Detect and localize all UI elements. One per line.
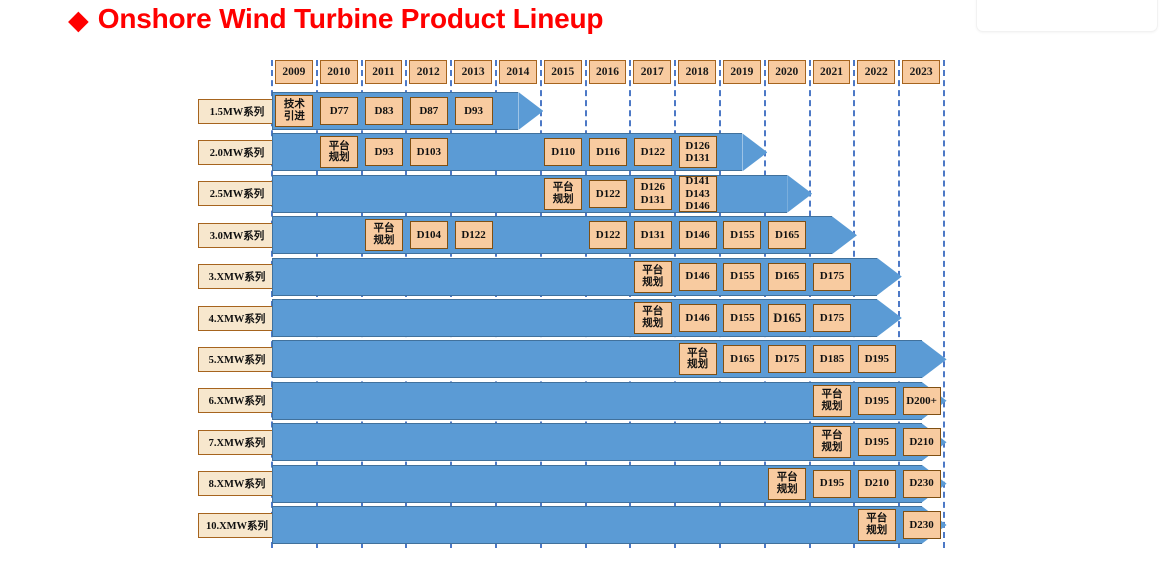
arrow-head [877,258,902,296]
year-header-cell: 2012 [409,60,447,84]
milestone-label-line: D165 [730,353,754,365]
milestone-label-line: D126 [641,181,665,193]
milestone-product-box[interactable]: D230 [903,470,941,498]
series-label: 3.XMW系列 [198,264,276,289]
year-header-cell: 2010 [320,60,358,84]
milestone-label-line: D116 [596,146,620,158]
milestone-label-line: D155 [730,270,754,282]
year-header-cell: 2020 [768,60,806,84]
milestone-label-line: D110 [551,146,575,158]
milestone-product-box[interactable]: D146 [679,221,717,249]
milestone-product-box[interactable]: D110 [544,138,582,166]
milestone-label-line: D141 [685,175,709,187]
milestone-label-line: D126 [685,140,709,152]
series-label: 2.0MW系列 [198,140,276,165]
milestone-product-box[interactable]: D165 [723,345,761,373]
milestone-product-box[interactable]: D155 [723,221,761,249]
milestone-label-line: D165 [775,270,799,282]
milestone-label-line: D155 [730,312,754,324]
milestone-label-line: D131 [685,152,709,164]
year-header-cell: 2023 [902,60,940,84]
milestone-label-line: D146 [685,229,709,241]
milestone-product-box[interactable]: D122 [455,221,493,249]
milestone-product-box[interactable]: D146 [679,304,717,332]
milestone-product-box[interactable]: D77 [320,97,358,125]
milestone-product-box[interactable]: D141D143D146 [679,176,717,212]
milestone-label-line: D143 [685,188,709,200]
arrow-head [742,133,767,171]
milestone-label-line: D175 [820,312,844,324]
slide-canvas: ◆ Onshore Wind Turbine Product Lineup 20… [0,0,1165,566]
milestone-label-line: 规划 [642,318,663,330]
milestone-label-line: D195 [820,477,844,489]
milestone-product-box[interactable]: D200+ [903,387,941,415]
milestone-product-box[interactable]: D195 [858,345,896,373]
year-header-cell: 2018 [678,60,716,84]
milestone-product-box[interactable]: D155 [723,304,761,332]
milestone-plan-box[interactable]: 平台规划 [679,343,717,375]
milestone-label-line: 引进 [284,111,305,123]
milestone-label-line: D175 [775,353,799,365]
milestone-product-box[interactable]: D195 [858,387,896,415]
arrow-head [832,216,857,254]
milestone-label-line: 平台 [642,265,663,277]
milestone-plan-box[interactable]: 平台规划 [813,385,851,417]
year-header-cell: 2009 [275,60,313,84]
arrow-head [922,340,947,378]
milestone-plan-box[interactable]: 平台规划 [634,261,672,293]
series-label: 7.XMW系列 [198,430,276,455]
milestone-label-line: D93 [375,146,394,158]
milestone-label-line: D122 [641,146,665,158]
year-header-cell: 2014 [499,60,537,84]
milestone-product-box[interactable]: D122 [634,138,672,166]
milestone-product-box[interactable]: D230 [903,511,941,539]
milestone-product-box[interactable]: D175 [813,304,851,332]
milestone-plan-box[interactable]: 技术引进 [275,95,313,127]
milestone-label-line: D195 [865,436,889,448]
milestone-product-box[interactable]: D122 [589,180,627,208]
milestone-label-line: D175 [820,270,844,282]
series-label: 2.5MW系列 [198,181,276,206]
arrow-head [518,92,543,130]
milestone-label-line: 规划 [329,152,350,164]
milestone-plan-box[interactable]: 平台规划 [768,468,806,500]
milestone-product-box[interactable]: D83 [365,97,403,125]
year-header-cell: 2015 [544,60,582,84]
milestone-product-box[interactable]: D126D131 [634,178,672,210]
milestone-label-line: 平台 [777,472,798,484]
milestone-product-box[interactable]: D122 [589,221,627,249]
milestone-plan-box[interactable]: 平台规划 [320,136,358,168]
milestone-label-line: D77 [330,105,349,117]
milestone-product-box[interactable]: D165 [768,221,806,249]
milestone-label-line: D165 [773,311,801,325]
milestone-label-line: D93 [464,105,483,117]
series-label: 6.XMW系列 [198,388,276,413]
year-header-cell: 2013 [454,60,492,84]
milestone-label-line: 规划 [642,277,663,289]
year-header-cell: 2019 [723,60,761,84]
milestone-product-box[interactable]: D103 [410,138,448,166]
year-header-cell: 2021 [813,60,851,84]
milestone-product-box[interactable]: D175 [768,345,806,373]
milestone-label-line: 规划 [866,525,887,537]
series-timeline-arrow [272,175,812,213]
milestone-plan-box[interactable]: 平台规划 [858,509,896,541]
milestone-label-line: 规划 [687,359,708,371]
year-header-cell: 2016 [589,60,627,84]
milestone-plan-box[interactable]: 平台规划 [544,178,582,210]
year-header-cell: 2022 [857,60,895,84]
series-label: 1.5MW系列 [198,99,276,124]
milestone-label-line: D230 [909,519,933,531]
series-label: 10.XMW系列 [198,513,276,538]
milestone-label-line: D195 [865,353,889,365]
milestone-label-line: 规划 [822,401,843,413]
milestone-label-line: 规划 [374,235,395,247]
year-header-cell: 2017 [633,60,671,84]
milestone-product-box[interactable]: D175 [813,263,851,291]
milestone-product-box[interactable]: D116 [589,138,627,166]
series-label: 5.XMW系列 [198,347,276,372]
milestone-plan-box[interactable]: 平台规划 [365,219,403,251]
milestone-product-box[interactable]: D87 [410,97,448,125]
milestone-label-line: D122 [461,229,485,241]
milestone-product-box[interactable]: D195 [858,428,896,456]
milestone-label-line: 规划 [777,484,798,496]
milestone-product-box[interactable]: D93 [365,138,403,166]
milestone-product-box[interactable]: D131 [634,221,672,249]
milestone-label-line: D146 [685,200,709,212]
milestone-label-line: D210 [909,436,933,448]
product-roadmap-chart: 2009201020112012201320142015201620172018… [0,0,1165,566]
series-label: 3.0MW系列 [198,223,276,248]
milestone-plan-box[interactable]: 平台规划 [634,302,672,334]
milestone-label-line: D83 [375,105,394,117]
milestone-plan-box[interactable]: 平台规划 [813,426,851,458]
milestone-label-line: D104 [417,229,441,241]
milestone-label-line: D185 [820,353,844,365]
arrow-head [787,175,812,213]
milestone-label-line: D122 [596,188,620,200]
milestone-product-box[interactable]: D165 [768,304,806,332]
milestone-product-box[interactable]: D210 [858,470,896,498]
series-label: 8.XMW系列 [198,471,276,496]
milestone-label-line: D131 [641,229,665,241]
milestone-label-line: D146 [685,270,709,282]
milestone-product-box[interactable]: D165 [768,263,806,291]
milestone-label-line: D87 [419,105,438,117]
milestone-label-line: D122 [596,229,620,241]
series-timeline-arrow [272,299,902,337]
milestone-label-line: D210 [865,477,889,489]
milestone-product-box[interactable]: D185 [813,345,851,373]
milestone-product-box[interactable]: D155 [723,263,761,291]
milestone-product-box[interactable]: D126D131 [679,136,717,168]
arrow-head [877,299,902,337]
milestone-product-box[interactable]: D104 [410,221,448,249]
milestone-label-line: D200+ [906,395,937,407]
milestone-product-box[interactable]: D146 [679,263,717,291]
milestone-label-line: D230 [909,477,933,489]
milestone-label-line: D155 [730,229,754,241]
milestone-product-box[interactable]: D93 [455,97,493,125]
milestone-label-line: D146 [685,312,709,324]
milestone-product-box[interactable]: D195 [813,470,851,498]
milestone-label-line: D131 [641,194,665,206]
milestone-product-box[interactable]: D210 [903,428,941,456]
year-header-cell: 2011 [365,60,403,84]
milestone-label-line: 规划 [822,442,843,454]
milestone-label-line: 规划 [553,194,574,206]
series-timeline-arrow [272,506,947,544]
arrow-body [272,506,922,544]
milestone-label-line: D195 [865,395,889,407]
milestone-label-line: D103 [417,146,441,158]
series-label: 4.XMW系列 [198,306,276,331]
series-timeline-arrow [272,258,902,296]
milestone-label-line: D165 [775,229,799,241]
